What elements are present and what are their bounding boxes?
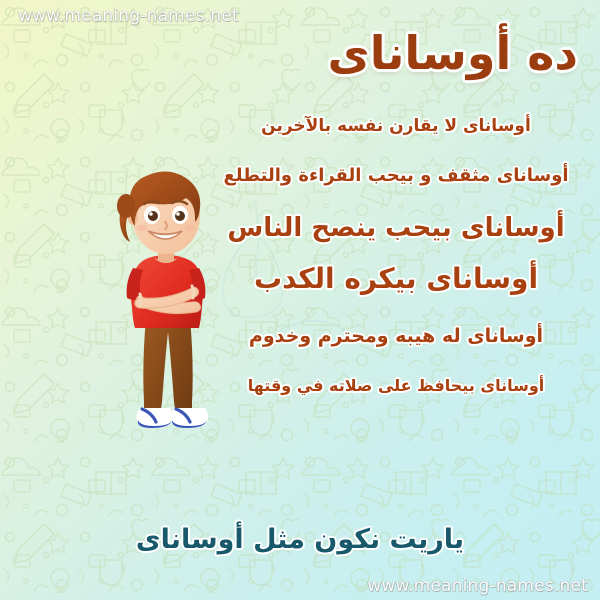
name-meaning-card: www.meaning-names.net ده أوساناى (0, 0, 600, 600)
watermark-top-left: www.meaning-names.net (18, 6, 239, 26)
trait-line: أوساناى بيحب ينصح الناس (200, 215, 592, 241)
traits-list: أوساناى لا يقارن نفسه بالآخرين أوساناى م… (200, 118, 592, 394)
page-title: ده أوساناى (328, 26, 578, 80)
trait-line: أوساناى لا يقارن نفسه بالآخرين (200, 118, 592, 135)
trait-line: أوساناى بيكره الكدب (200, 265, 592, 293)
footer-wish-text: ياريت نكون مثل أوساناى (0, 524, 600, 555)
trait-line: أوساناى بيحافظ على صلاته في وقتها (200, 378, 592, 394)
trait-line: أوساناى له هيبه ومحترم وخدوم (200, 327, 592, 346)
watermark-bottom-right: www.meaning-names.net (367, 576, 588, 596)
trait-line: أوساناى مثقف و بيحب القراءة والتطلع (200, 167, 592, 185)
